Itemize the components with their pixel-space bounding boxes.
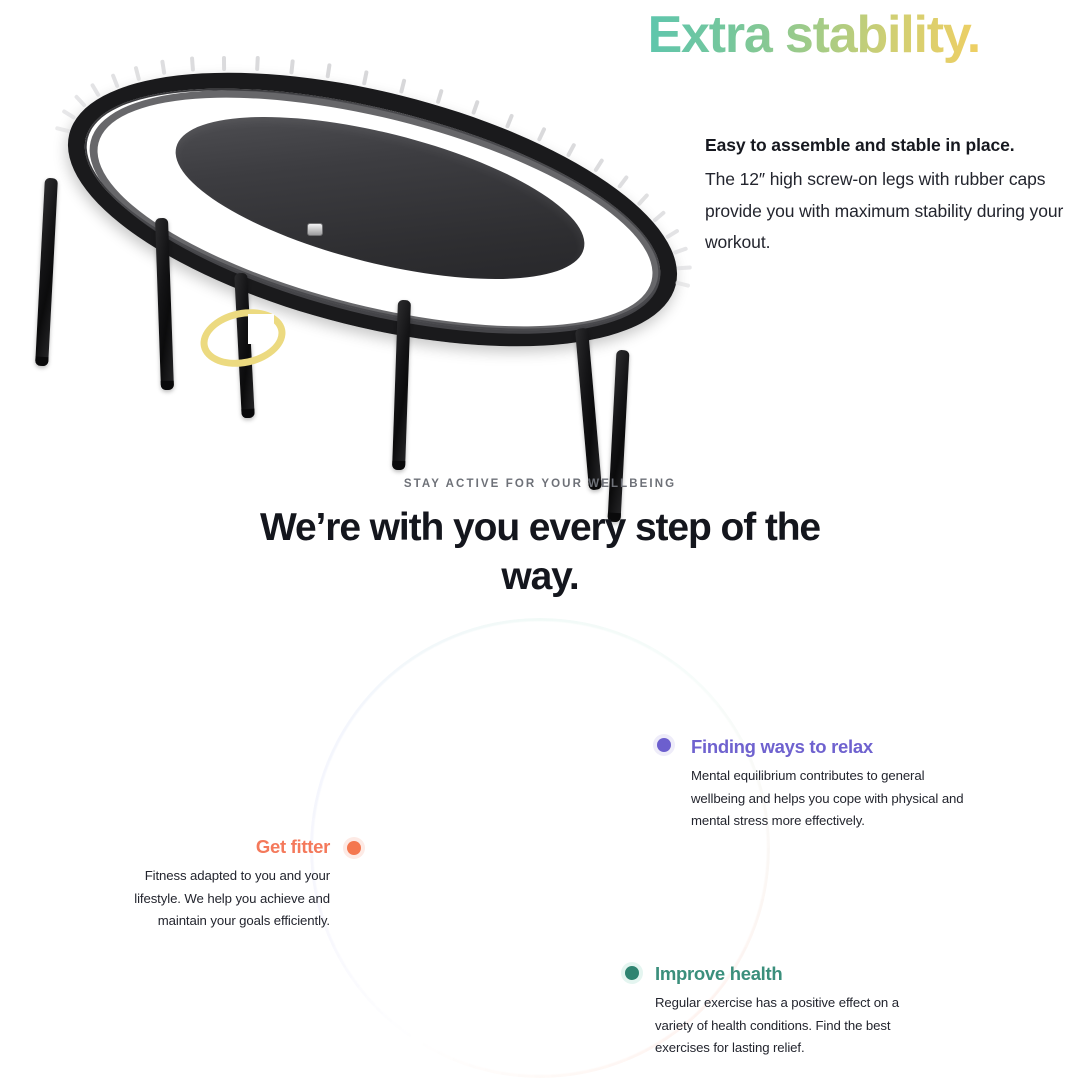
ring-node-dot-fitter[interactable] xyxy=(343,837,365,859)
ring-node-fitter[interactable]: Get fitter Fitness adapted to you and yo… xyxy=(115,836,330,933)
ring-node-relax[interactable]: Finding ways to relax Mental equilibrium… xyxy=(691,736,981,833)
node-label: Improve health xyxy=(655,963,920,985)
ring-gradient-track xyxy=(390,698,690,998)
node-description: Mental equilibrium contributes to genera… xyxy=(691,765,981,833)
page-root: Extra stability. Easy to assemble and st… xyxy=(0,0,1080,1080)
dot-icon xyxy=(625,966,639,980)
node-description: Regular exercise has a positive effect o… xyxy=(655,992,920,1060)
dot-icon xyxy=(657,738,671,752)
dot-icon xyxy=(347,841,361,855)
wellbeing-ring-chart: Finding ways to relax Mental equilibrium… xyxy=(0,0,1080,1080)
ring-node-dot-relax[interactable] xyxy=(653,734,675,756)
ring-node-dot-health[interactable] xyxy=(621,962,643,984)
node-description: Fitness adapted to you and your lifestyl… xyxy=(115,865,330,933)
node-label: Finding ways to relax xyxy=(691,736,981,758)
node-label: Get fitter xyxy=(115,836,330,858)
ring-node-health[interactable]: Improve health Regular exercise has a po… xyxy=(655,963,920,1060)
